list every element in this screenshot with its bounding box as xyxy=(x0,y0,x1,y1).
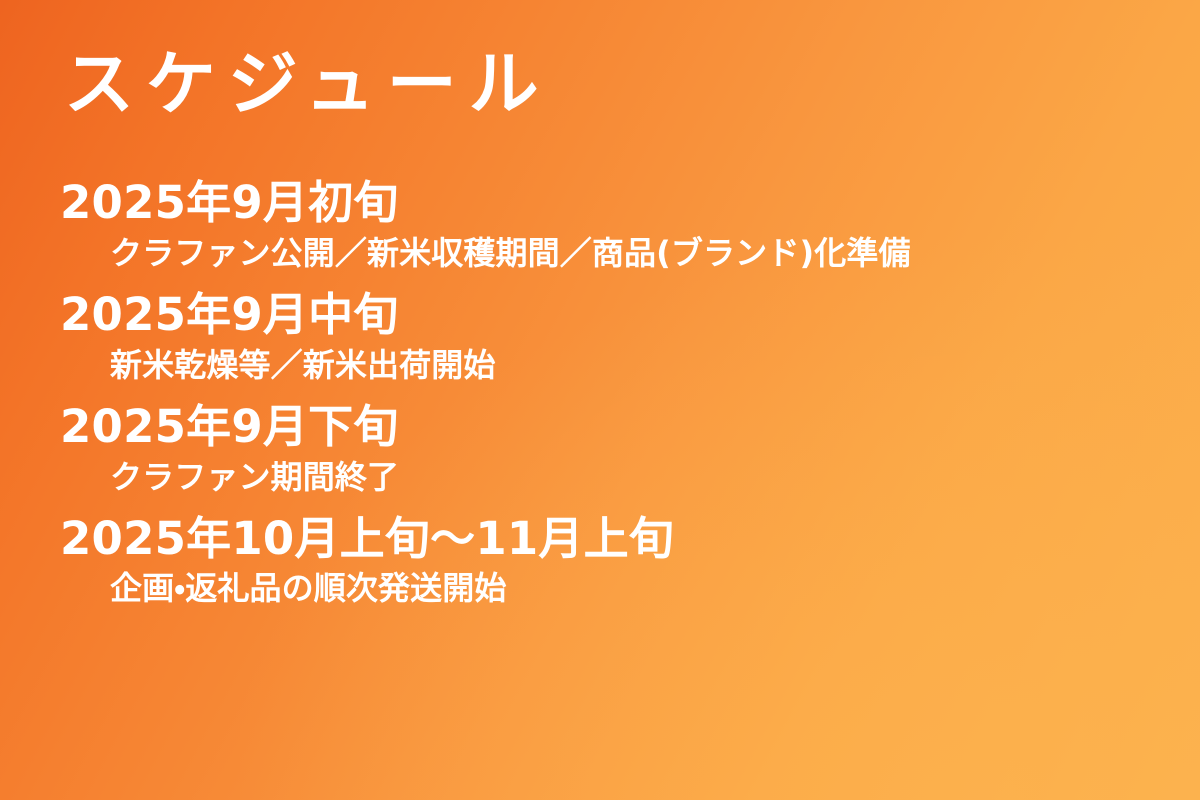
timeline-entry: 2025年9月初旬 クラファン公開／新米収穫期間／商品(ブランド)化準備 xyxy=(0,176,1200,274)
timeline-entry-description: クラファン公開／新米収穫期間／商品(ブランド)化準備 xyxy=(0,233,1200,274)
timeline-entry-date: 2025年9月初旬 xyxy=(0,176,1200,231)
schedule-slide: スケジュール 2025年9月初旬 クラファン公開／新米収穫期間／商品(ブランド)… xyxy=(0,0,1200,800)
timeline-entry-date: 2025年10月上旬〜11月上旬 xyxy=(0,512,1200,567)
timeline-entry-description: 企画・返礼品の順次発送開始 xyxy=(0,568,1200,609)
timeline-entry-description: 新米乾燥等／新米出荷開始 xyxy=(0,345,1200,386)
timeline-entry-date: 2025年9月中旬 xyxy=(0,288,1200,343)
timeline-entry: 2025年9月下旬 クラファン期間終了 xyxy=(0,400,1200,498)
schedule-timeline: 2025年9月初旬 クラファン公開／新米収穫期間／商品(ブランド)化準備 202… xyxy=(0,176,1200,623)
timeline-entry: 2025年9月中旬 新米乾燥等／新米出荷開始 xyxy=(0,288,1200,386)
timeline-entry-description: クラファン期間終了 xyxy=(0,457,1200,498)
page-title: スケジュール xyxy=(64,48,551,122)
timeline-entry-date: 2025年9月下旬 xyxy=(0,400,1200,455)
timeline-entry: 2025年10月上旬〜11月上旬 企画・返礼品の順次発送開始 xyxy=(0,512,1200,610)
